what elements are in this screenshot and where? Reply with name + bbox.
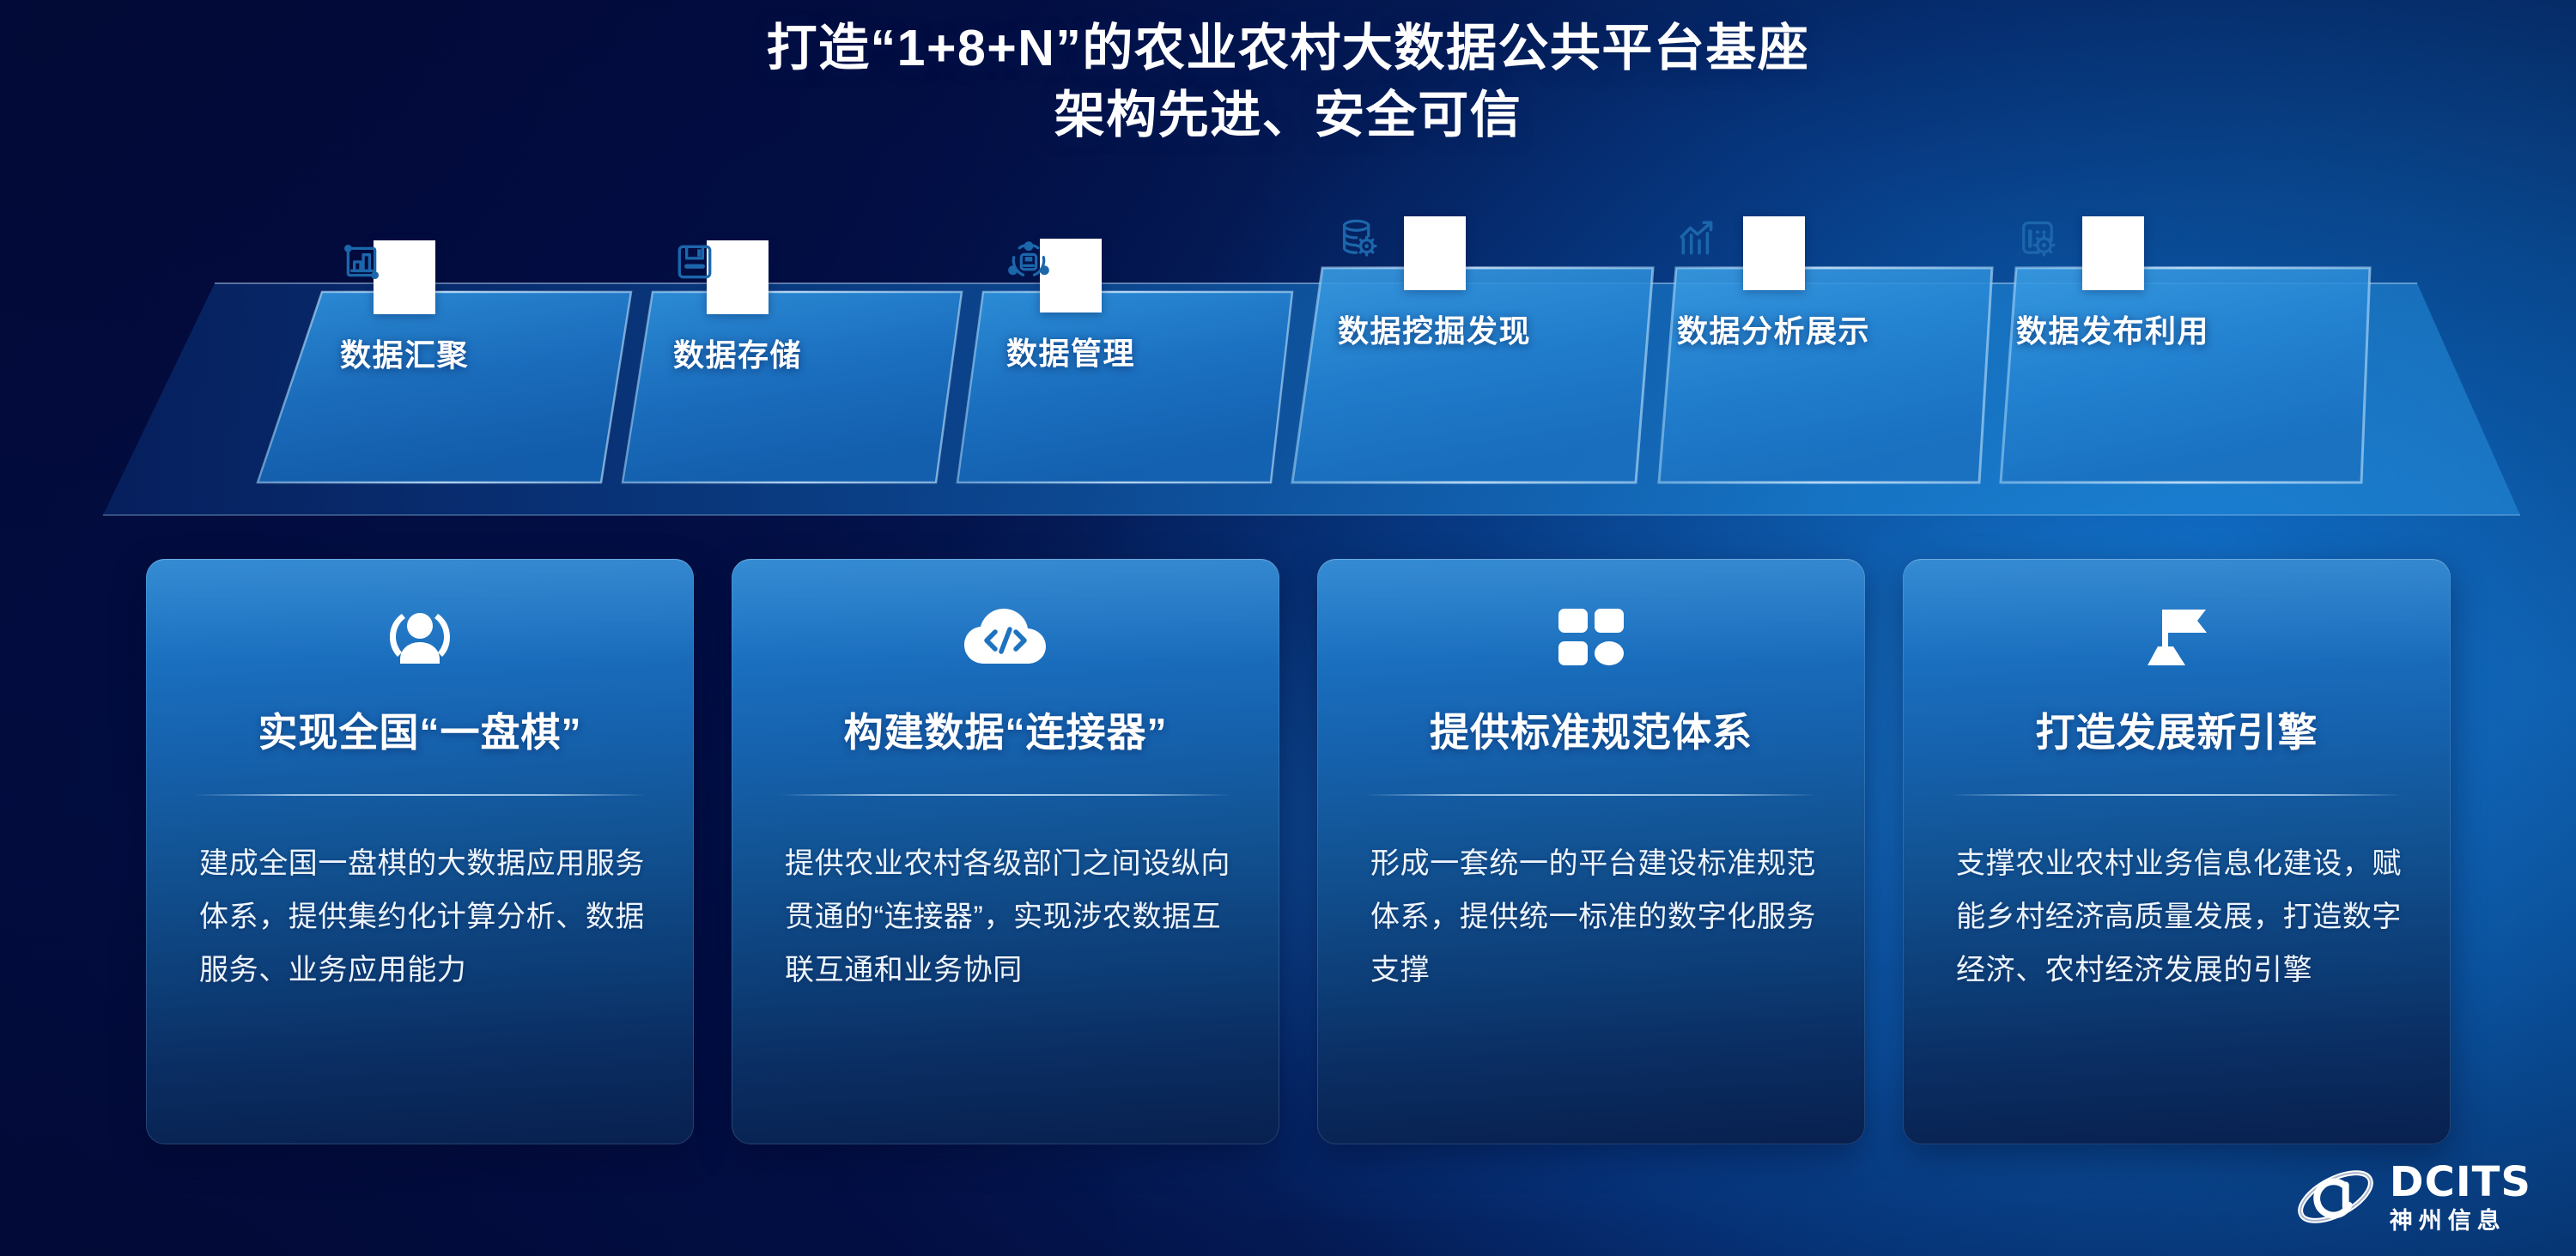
- pipeline-stage-1[interactable]: 数据汇聚: [340, 240, 469, 375]
- page-title: 打造“1+8+N”的农业农村大数据公共平台基座 架构先进、安全可信: [0, 15, 2576, 149]
- card-divider: [780, 794, 1231, 796]
- page-title-line2: 架构先进、安全可信: [0, 82, 2576, 149]
- brand-logo: DCITS 神州信息: [2293, 1160, 2531, 1234]
- cloud-code-icon: [732, 603, 1279, 673]
- pipeline-ribbon: 数据汇聚 数据存储: [0, 258, 2576, 541]
- feature-card-2[interactable]: 构建数据“连接器” 提供农业农村各级部门之间设纵向贯通的“连接器”，实现涉农数据…: [732, 559, 1279, 1144]
- users-group-icon: [146, 603, 694, 673]
- card-divider: [194, 794, 646, 796]
- pipeline-stage-6-label: 数据发布利用: [2016, 306, 2209, 351]
- dcits-orbit-icon: [2293, 1160, 2378, 1234]
- floppy-disk-icon: [707, 240, 769, 314]
- brand-name-en: DCITS: [2390, 1162, 2531, 1203]
- pipeline-stage-2[interactable]: 数据存储: [673, 240, 802, 375]
- feature-cards: 实现全国“一盘棋” 建成全国一盘棋的大数据应用服务体系，提供集约化计算分析、数据…: [0, 559, 2576, 1151]
- feature-card-2-title: 构建数据“连接器”: [732, 701, 1279, 758]
- pipeline-stage-5[interactable]: 数据分析展示: [1677, 216, 1870, 351]
- pipeline-stage-5-label: 数据分析展示: [1677, 306, 1870, 351]
- feature-card-1-title: 实现全国“一盘棋”: [146, 701, 694, 758]
- feature-card-2-body: 提供农业农村各级部门之间设纵向贯通的“连接器”，实现涉农数据互联互通和业务协同: [785, 838, 1238, 998]
- flag-icon: [1903, 603, 2451, 673]
- card-divider: [1365, 794, 1817, 796]
- brand-name-cn: 神州信息: [2390, 1210, 2531, 1233]
- pipeline-stage-1-label: 数据汇聚: [340, 331, 469, 375]
- card-divider: [1951, 794, 2403, 796]
- page-title-line1: 打造“1+8+N”的农业农村大数据公共平台基座: [0, 15, 2576, 82]
- growth-chart-icon: [1743, 216, 1805, 290]
- pipeline-stage-3[interactable]: 数据管理: [1006, 239, 1135, 373]
- pipeline-stage-3-label: 数据管理: [1006, 329, 1135, 373]
- feature-card-4[interactable]: 打造发展新引擎 支撑农业农村业务信息化建设，赋能乡村经济高质量发展，打造数字经济…: [1903, 559, 2451, 1144]
- feature-card-3-body: 形成一套统一的平台建设标准规范体系，提供统一标准的数字化服务支撑: [1370, 838, 1824, 998]
- pipeline-stage-6[interactable]: 数据发布利用: [2016, 216, 2209, 351]
- pipeline-stage-4-label: 数据挖掘发现: [1338, 306, 1531, 351]
- panel-gear-icon: [2082, 216, 2144, 290]
- pipeline-stage-4[interactable]: 数据挖掘发现: [1338, 216, 1531, 351]
- feature-card-1-body: 建成全国一盘棋的大数据应用服务体系，提供集约化计算分析、数据服务、业务应用能力: [199, 838, 653, 998]
- feature-card-3[interactable]: 提供标准规范体系 形成一套统一的平台建设标准规范体系，提供统一标准的数字化服务支…: [1317, 559, 1865, 1144]
- feature-card-3-title: 提供标准规范体系: [1317, 701, 1865, 758]
- pipeline-stage-2-label: 数据存储: [673, 331, 802, 375]
- feature-card-1[interactable]: 实现全国“一盘棋” 建成全国一盘棋的大数据应用服务体系，提供集约化计算分析、数据…: [146, 559, 694, 1144]
- node-network-icon: [1040, 239, 1102, 312]
- feature-card-4-body: 支撑农业农村业务信息化建设，赋能乡村经济高质量发展，打造数字经济、农村经济发展的…: [1956, 838, 2409, 998]
- brand-logo-text: DCITS 神州信息: [2390, 1162, 2531, 1233]
- feature-card-4-title: 打造发展新引擎: [1903, 701, 2451, 758]
- four-blocks-icon: [1317, 603, 1865, 673]
- database-gear-icon: [1404, 216, 1466, 290]
- bar-chart-node-icon: [374, 240, 435, 314]
